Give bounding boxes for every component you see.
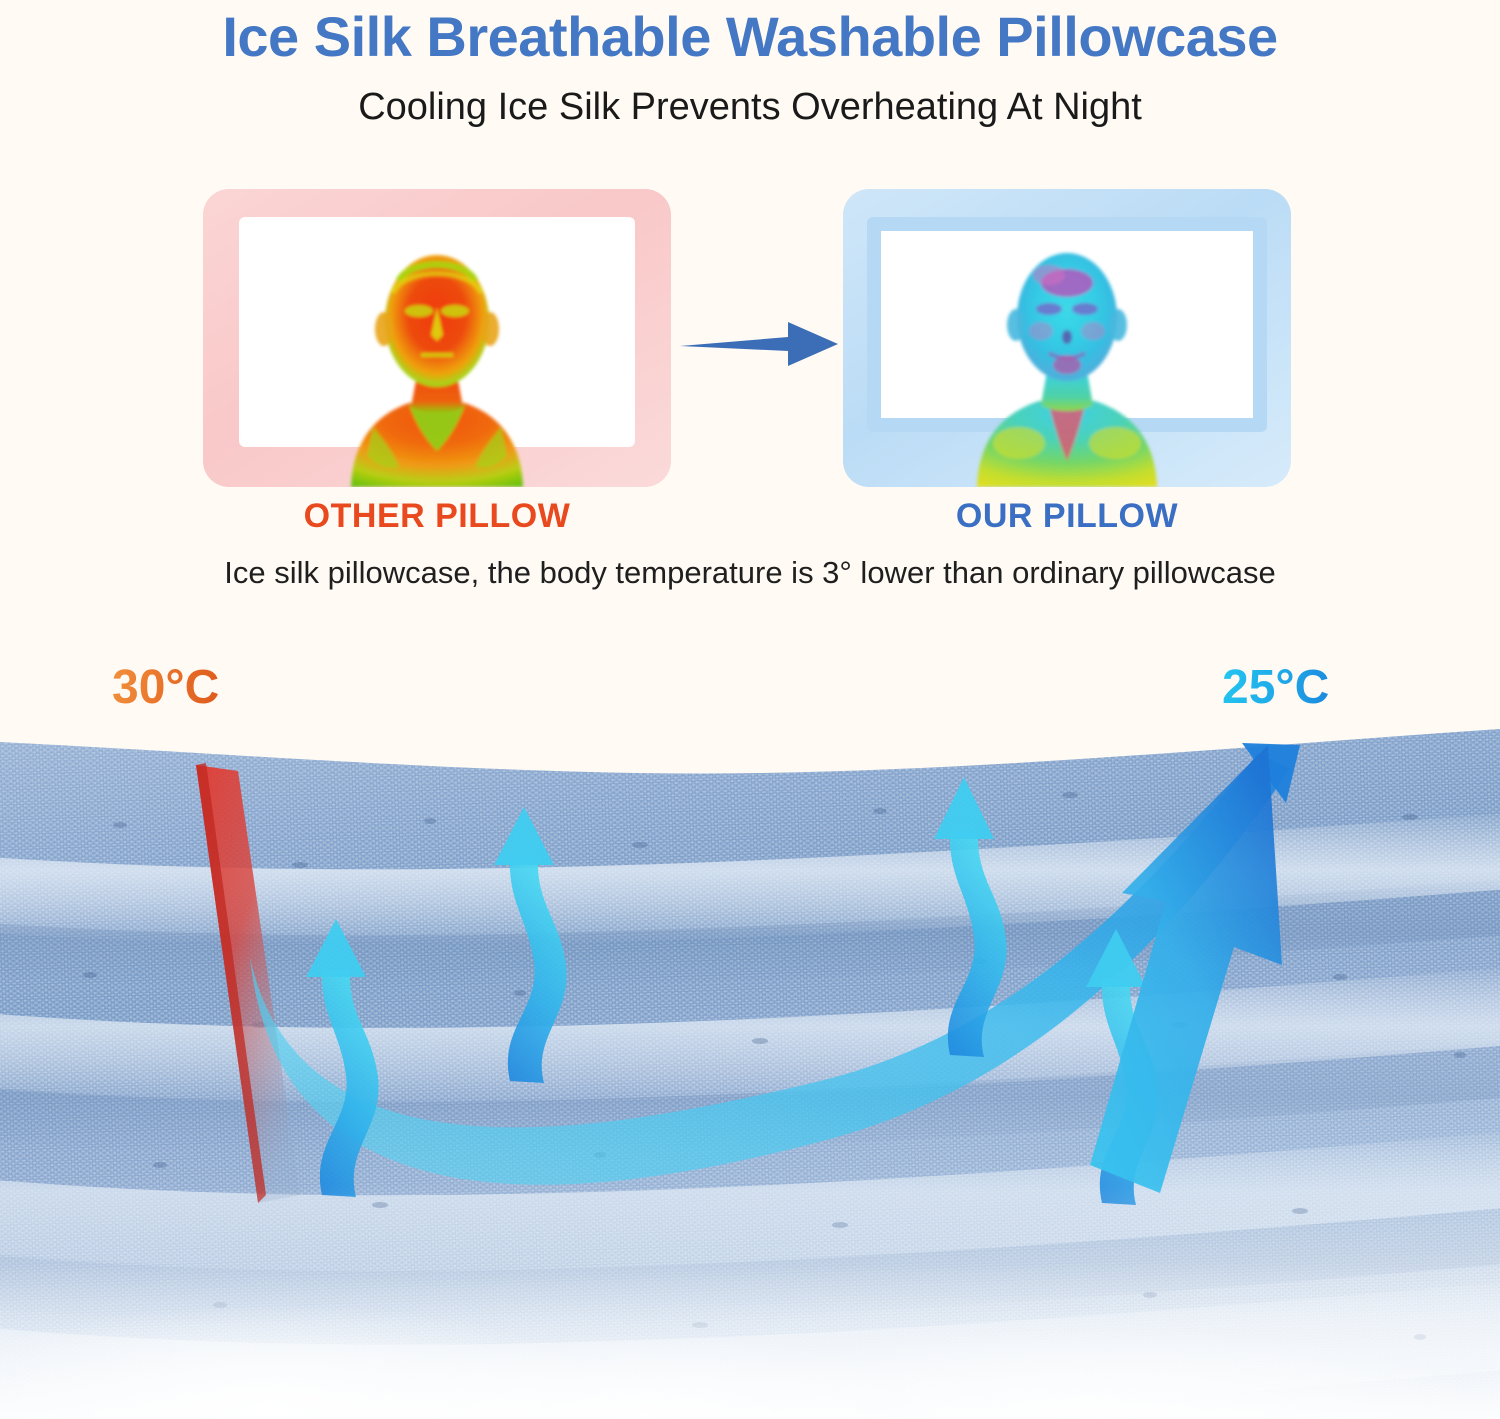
infographic-page: Ice Silk Breathable Washable Pillowcase … bbox=[0, 0, 1500, 1419]
page-title: Ice Silk Breathable Washable Pillowcase bbox=[0, 4, 1500, 70]
thermal-panel-other-pillow bbox=[203, 189, 671, 487]
ice-silk-fabric-image bbox=[0, 725, 1500, 1419]
comparison-caption: Ice silk pillowcase, the body temperatur… bbox=[0, 552, 1500, 594]
label-our-pillow: OUR PILLOW bbox=[843, 497, 1291, 536]
comparison-section: Ice Silk Breathable Washable Pillowcase … bbox=[0, 0, 1500, 745]
fabric-photo-section bbox=[0, 725, 1500, 1419]
temperature-hot-label: 30°C bbox=[112, 660, 219, 715]
thermal-body-hot-icon bbox=[203, 189, 671, 487]
thermal-body-cool-icon bbox=[843, 189, 1291, 487]
page-subtitle: Cooling Ice Silk Prevents Overheating At… bbox=[0, 82, 1500, 132]
temperature-cold-label: 25°C bbox=[1222, 660, 1329, 715]
label-other-pillow: OTHER PILLOW bbox=[203, 497, 671, 536]
right-arrow-icon bbox=[680, 318, 840, 370]
thermal-panel-our-pillow bbox=[843, 189, 1291, 487]
